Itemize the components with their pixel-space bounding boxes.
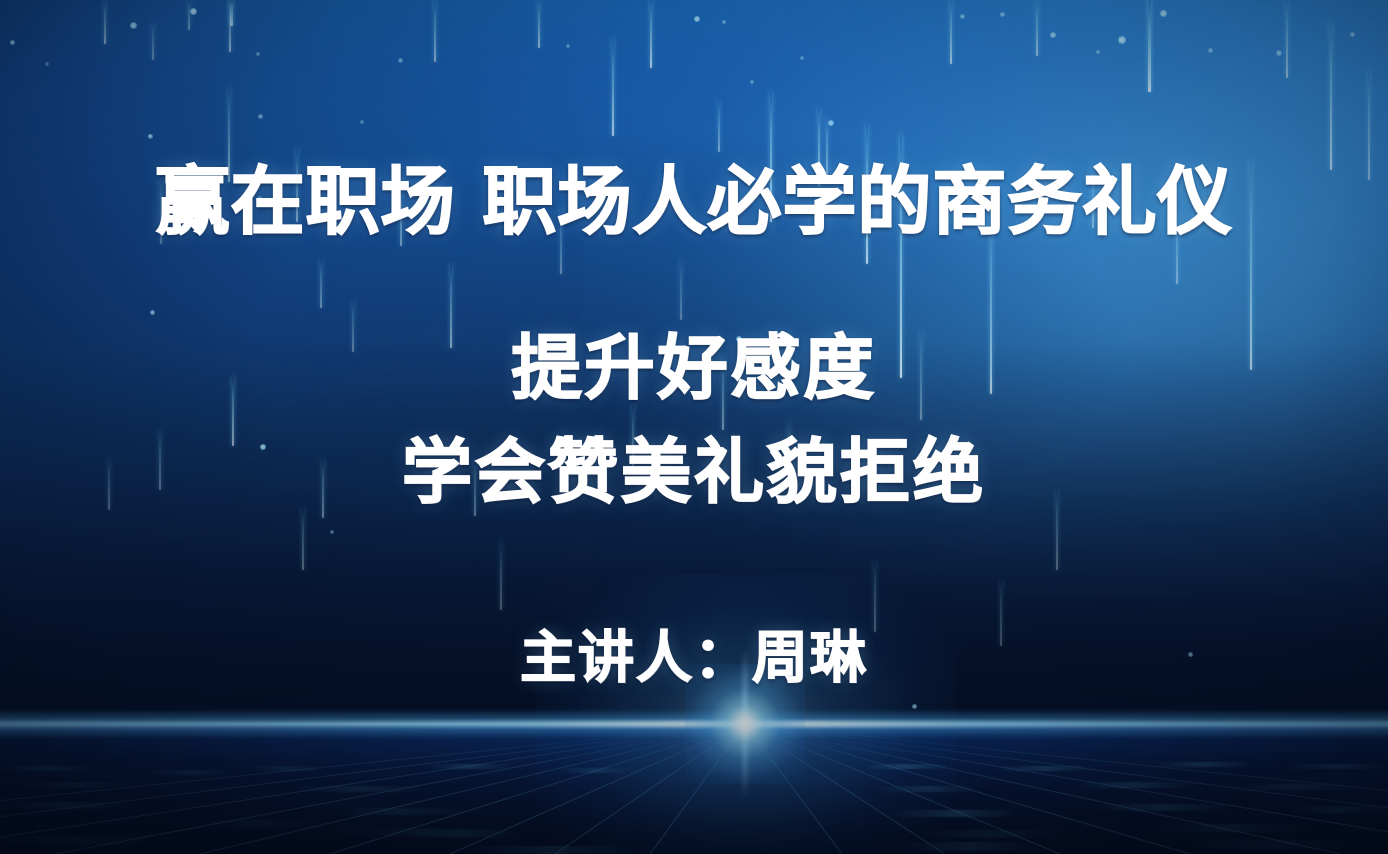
course-subtitle-line-2: 学会赞美礼貌拒绝 [0,432,1388,512]
title-card-stage: 赢在职场 职场人必学的商务礼仪 提升好感度 学会赞美礼貌拒绝 主讲人：周琳 [0,0,1388,854]
course-subtitle-line-1: 提升好感度 [0,328,1388,408]
presenter-name: 主讲人：周琳 [0,626,1388,692]
course-title: 赢在职场 职场人必学的商务礼仪 [0,160,1388,244]
title-text-layer: 赢在职场 职场人必学的商务礼仪 提升好感度 学会赞美礼貌拒绝 主讲人：周琳 [0,0,1388,854]
